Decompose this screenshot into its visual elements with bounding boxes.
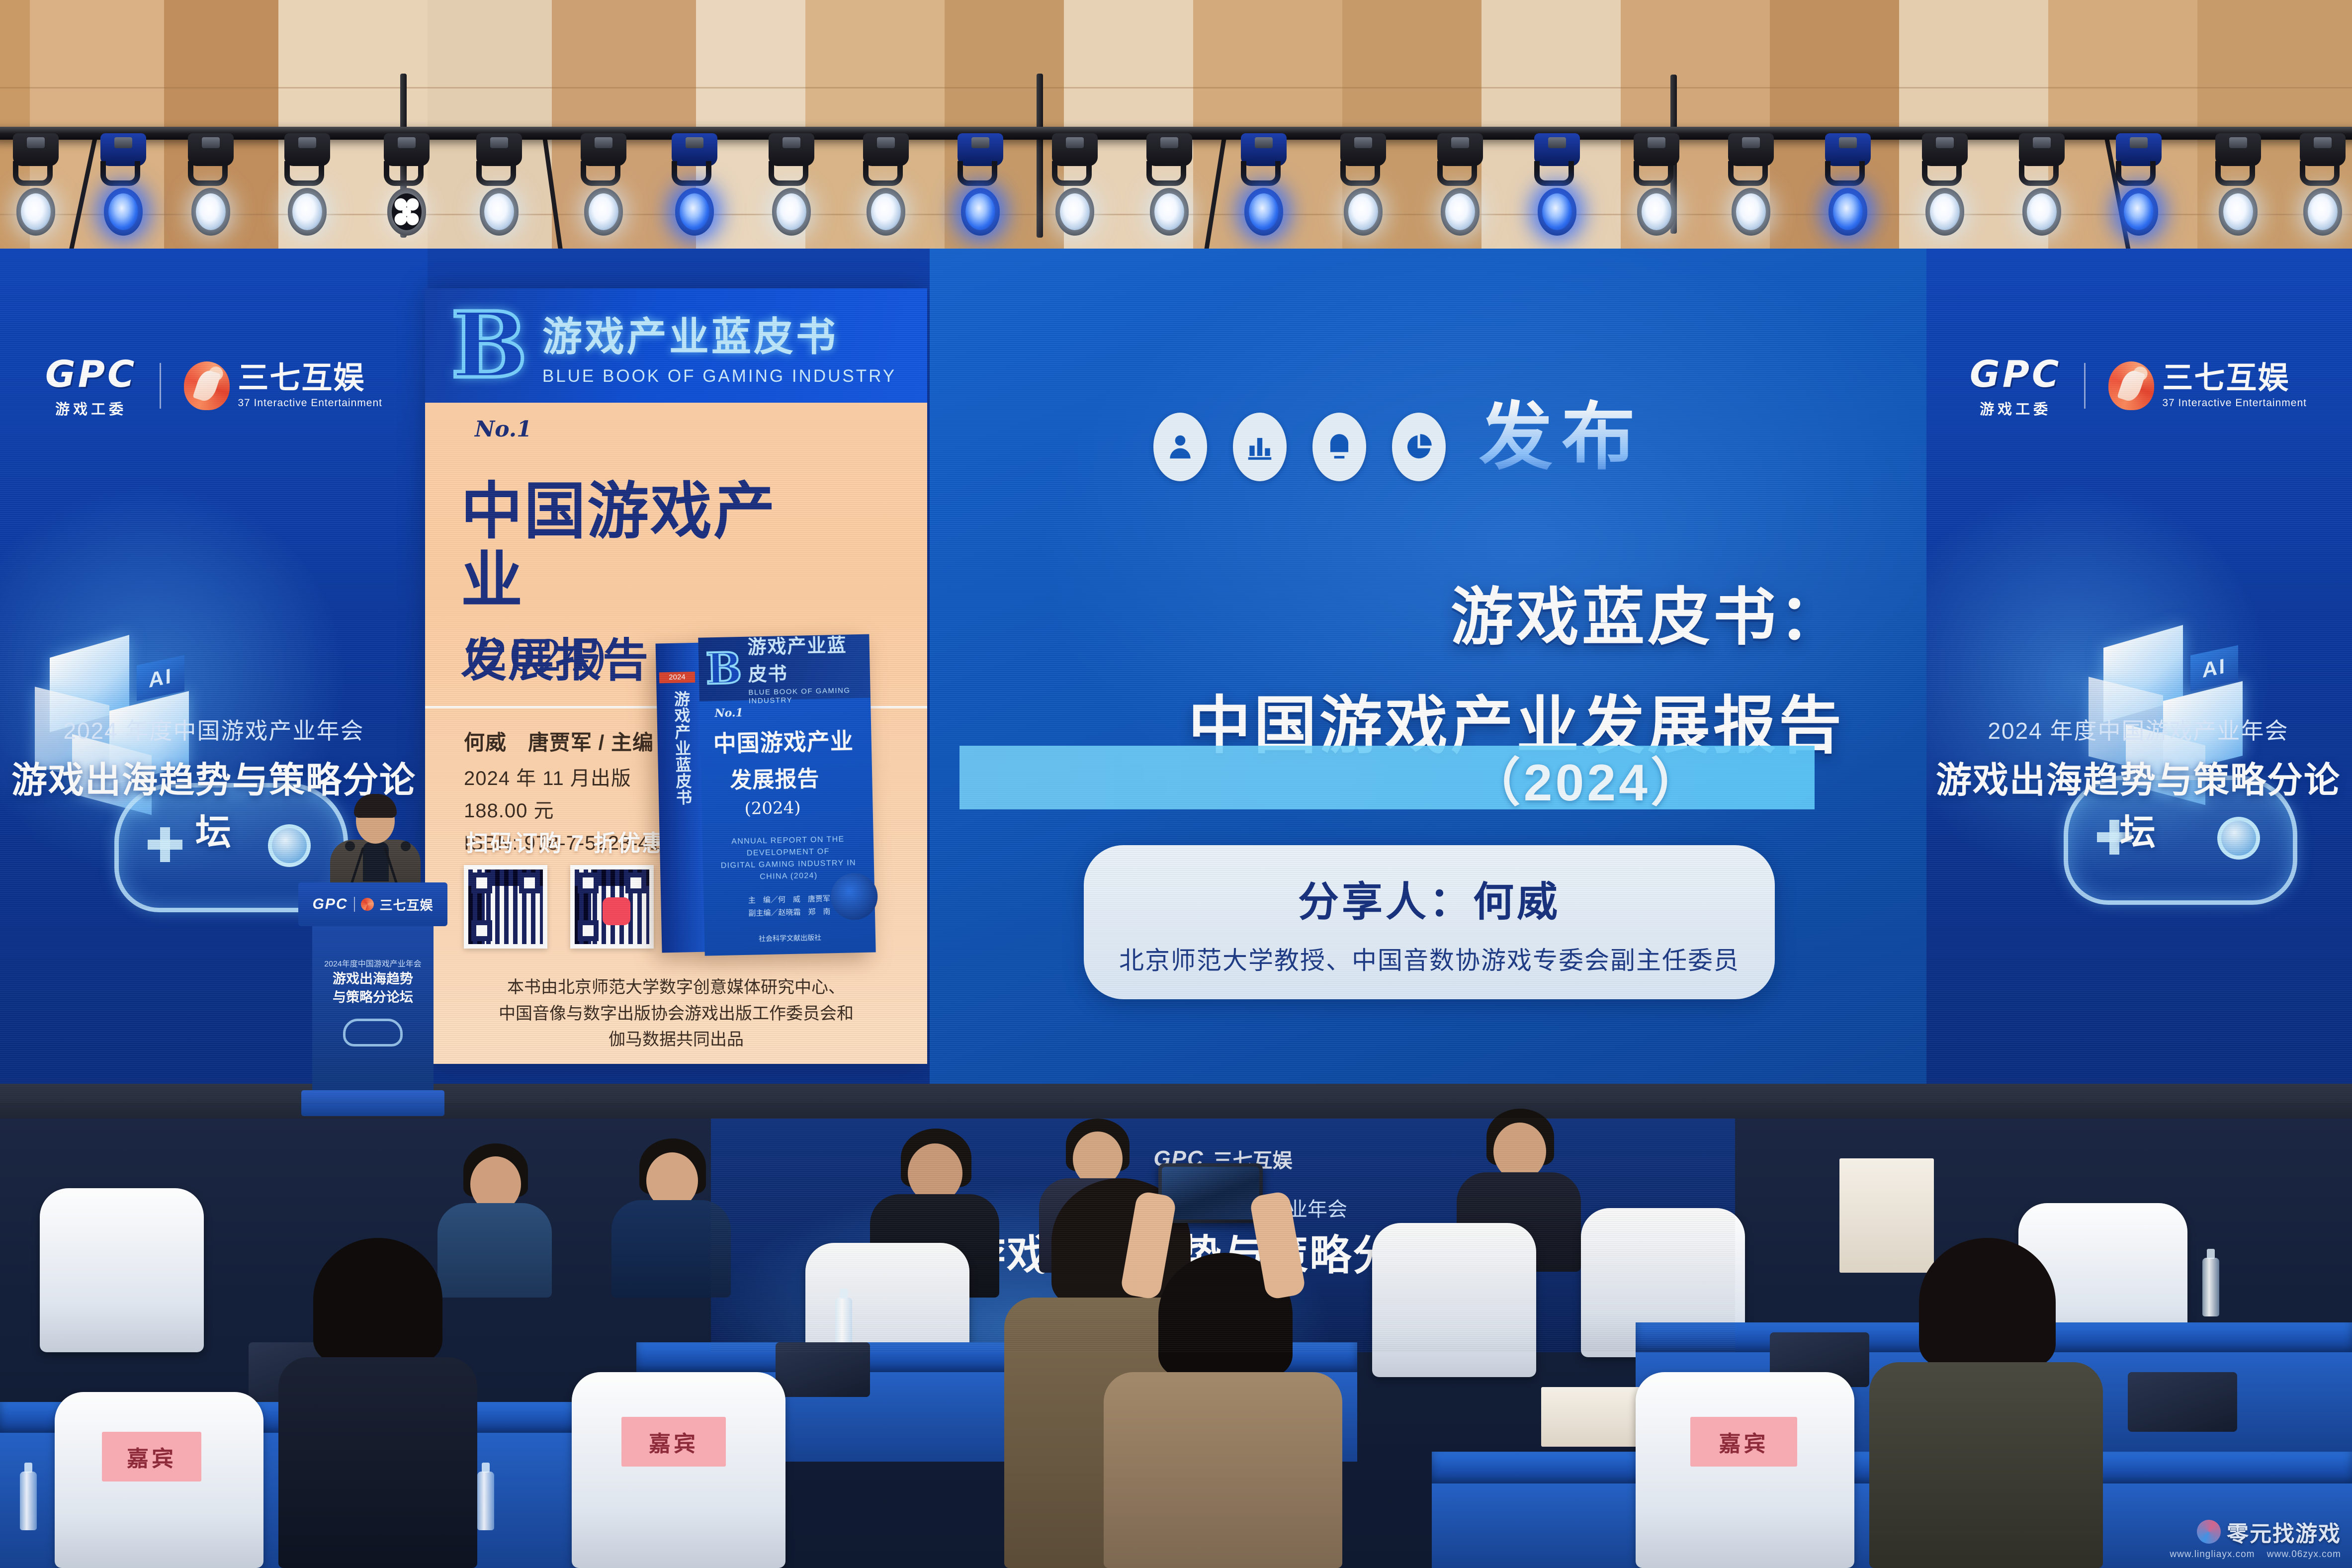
book-cover-no1: No.1 — [714, 704, 871, 720]
presenter-hair — [354, 794, 397, 818]
bell-icon — [1312, 413, 1366, 481]
stage-lamp-white — [2297, 133, 2349, 236]
book-cover-year: (2024) — [744, 796, 873, 818]
year-band: （2024） — [959, 746, 1815, 809]
year-band-label: （2024） — [1469, 740, 1705, 815]
sanqi-mark-icon — [184, 361, 230, 410]
stage-lamp-white — [1143, 133, 1195, 236]
right-wing-title-line1: 2024 年度中国游戏产业年会 — [1924, 713, 2352, 746]
podium-line-big1: 游戏出海趋势 — [312, 971, 434, 987]
person-icon — [1153, 413, 1207, 481]
sanqi-cn-label: 三七互娱 — [2162, 363, 2307, 394]
audience-person-front — [1104, 1253, 1342, 1568]
podium-base — [301, 1090, 444, 1116]
book-3d-mockup: 2024 游戏产业蓝皮书 B 游戏产业蓝皮书 BLUE BOOK OF GAMI… — [655, 634, 875, 957]
poster-footer: 本书由北京师范大学数字创意媒体研究中心、 中国音像与数字出版协会游戏出版工作委员… — [425, 974, 927, 1053]
stage-lamp-white — [578, 133, 629, 236]
book-spine: 2024 游戏产业蓝皮书 — [656, 643, 705, 953]
microphone-head-icon — [345, 841, 355, 851]
stage-lamp-white — [1725, 133, 1777, 236]
stage-lamp-white — [2016, 133, 2068, 236]
gpc-sub-label: 游戏工委 — [55, 398, 127, 419]
poster-header-en: BLUE BOOK OF GAMING INDUSTRY — [542, 366, 896, 386]
poster-title-line1: 中国游戏产业 — [461, 477, 779, 615]
qr-code-1[interactable] — [464, 865, 547, 949]
phone-screen — [1162, 1167, 1259, 1220]
sanqi-cn-label: 三七互娱 — [238, 363, 382, 394]
panel-main-title: 游戏蓝皮书： 中国游戏产业发展报告 — [989, 567, 1904, 766]
speaker-role: 北京师范大学教授、中国音数协游戏专委会副主任委员 — [1119, 941, 1740, 976]
pie-chart-icon — [1392, 413, 1446, 481]
poster-year: (2024) — [465, 631, 607, 681]
book-publisher: 社会科学文献出版社 — [704, 931, 875, 945]
bar-chart-icon — [1233, 413, 1287, 481]
gpc-logo: GPC 游戏工委 — [1970, 353, 2061, 419]
stage-lamp-blue — [955, 133, 1006, 236]
name-card: 嘉宾 — [621, 1417, 726, 1467]
podium-sanqi-mark-icon — [361, 898, 374, 911]
gpc-wordmark: GPC — [1970, 353, 2061, 396]
tablet-device[interactable] — [776, 1342, 870, 1397]
watermark-url-1: www.lingliayx.com — [2170, 1549, 2255, 1560]
stage-lamp-white — [1434, 133, 1486, 236]
podium-gamepad-graphic — [343, 1019, 403, 1046]
icon-row — [1153, 413, 1446, 481]
water-bottle — [2202, 1258, 2219, 1316]
stage-lamp-blue — [2113, 133, 2165, 236]
title-panel: 发布 游戏蓝皮书： 中国游戏产业发展报告 （2024） 分享人：何威 北京师范大… — [930, 249, 1926, 1104]
qr-code-row — [464, 865, 654, 949]
gpc-logo: GPC 游戏工委 — [45, 353, 137, 419]
release-word: 发布 — [1479, 377, 1644, 484]
bluebook-letter: B — [451, 309, 527, 382]
audience-chair — [40, 1188, 204, 1352]
wall-seam — [0, 87, 2352, 88]
book-cover-cn: 游戏产业蓝皮书 — [747, 629, 864, 687]
speaker-name: 分享人：何威 — [1298, 869, 1561, 928]
poster-footer-line1: 本书由北京师范大学数字创意媒体研究中心、 — [425, 974, 927, 1001]
sanqi-en-label: 37 Interactive Entertainment — [238, 397, 382, 409]
qr-code-2[interactable] — [570, 865, 654, 949]
watermark-url-2: www.06zyx.com — [2267, 1549, 2341, 1560]
poster-footer-line2: 中国音像与数字出版协会游戏出版工作委员会和 — [425, 1001, 927, 1027]
book-spine-title: 游戏产业蓝皮书 — [668, 691, 692, 806]
poster-footer-line3: 伽马数据共同出品 — [425, 1027, 927, 1053]
stage-lamp-multi — [381, 133, 433, 236]
right-wing-title: 2024 年度中国游戏产业年会 游戏出海趋势与策略分论坛 — [1924, 713, 2352, 855]
stage-lamp-white — [1919, 133, 1971, 236]
stage-lamp-white — [281, 133, 333, 236]
name-card: 嘉宾 — [1690, 1417, 1797, 1467]
podium-gpc-logo: GPC — [312, 896, 348, 913]
poster-header: B 游戏产业蓝皮书 BLUE BOOK OF GAMING INDUSTRY — [425, 288, 927, 403]
stage-lamp-white — [185, 133, 237, 236]
audience-person-front — [278, 1238, 477, 1568]
audience-person — [611, 1138, 731, 1293]
left-wing-title-line1: 2024 年度中国游戏产业年会 — [0, 713, 428, 746]
podium-line-big2: 与策略分论坛 — [312, 989, 434, 1006]
book-cover-title1: 中国游戏产业 — [713, 723, 871, 759]
podium: GPC 三七互娱 2024年度中国游戏产业年会 游戏出海趋势 与策略分论坛 — [298, 882, 447, 1116]
stage-lamp-white — [1631, 133, 1682, 236]
stage-lamp-white — [860, 133, 912, 236]
stage-lamp-white — [766, 133, 817, 236]
stage-lamp-blue — [97, 133, 149, 236]
front-chair — [572, 1372, 785, 1568]
book-front-cover: B 游戏产业蓝皮书 BLUE BOOK OF GAMING INDUSTRY N… — [698, 634, 875, 956]
left-wing-logo-row: GPC 游戏工委 三七互娱 37 Interactive Entertainme… — [0, 353, 428, 419]
stage-lamp-white — [473, 133, 525, 236]
podium-sanqi-label: 三七互娱 — [380, 895, 434, 914]
truss-pole — [1037, 74, 1043, 238]
stage-lamp-blue — [669, 133, 720, 236]
book-spine-year: 2024 — [659, 672, 695, 684]
poster-header-cn: 游戏产业蓝皮书 — [542, 305, 896, 362]
front-chair — [1636, 1372, 1854, 1568]
panel-title-line1: 游戏蓝皮书： — [989, 567, 1844, 657]
book-cover-letter: B — [705, 651, 742, 687]
stage-lamp-blue — [1531, 133, 1583, 236]
right-wing-logo-row: GPC 游戏工委 三七互娱 37 Interactive Entertainme… — [1924, 353, 2352, 419]
stage-lamp-blue — [1822, 133, 1874, 236]
speaker-info-pill: 分享人：何威 北京师范大学教授、中国音数协游戏专委会副主任委员 — [1084, 845, 1775, 999]
stage-lamp-blue — [1238, 133, 1290, 236]
stage-lamp-white — [10, 133, 62, 236]
podium-line-small: 2024年度中国游戏产业年会 — [312, 957, 434, 969]
sanqi-logo: 三七互娱 37 Interactive Entertainment — [2108, 361, 2307, 410]
watermark-brand: 零元找游戏 — [2227, 1516, 2341, 1548]
poster-no1-label: No.1 — [475, 417, 532, 442]
watermark-logo-icon — [2197, 1520, 2221, 1544]
logo-divider — [2084, 363, 2086, 409]
book-cover-en-sub1: ANNUAL REPORT ON THE DEVELOPMENT OF — [710, 833, 866, 861]
podium-front-panel: 2024年度中国游戏产业年会 游戏出海趋势 与策略分论坛 — [312, 926, 434, 1090]
name-card: 嘉宾 — [102, 1432, 201, 1481]
logo-divider — [160, 363, 161, 409]
sanqi-logo: 三七互娱 37 Interactive Entertainment — [184, 361, 382, 410]
stage-lamp-white — [1337, 133, 1389, 236]
right-wing-panel: GPC 游戏工委 三七互娱 37 Interactive Entertainme… — [1924, 249, 2352, 1104]
sanqi-en-label: 37 Interactive Entertainment — [2162, 397, 2307, 409]
microphone-head-icon — [401, 841, 411, 851]
conference-photo: GPC 游戏工委 三七互娱 37 Interactive Entertainme… — [0, 0, 2352, 1568]
podium-logo-divider — [354, 897, 355, 912]
water-bottle — [20, 1472, 37, 1530]
podium-logo-bar: GPC 三七互娱 — [298, 882, 447, 926]
right-wing-title-line2: 游戏出海趋势与策略分论坛 — [1924, 751, 2352, 855]
sanqi-mark-icon — [2108, 361, 2154, 410]
qr-center-logo-icon — [603, 897, 630, 925]
tablet-device[interactable] — [2128, 1372, 2237, 1432]
water-bottle — [477, 1472, 494, 1530]
gpc-sub-label: 游戏工委 — [1980, 398, 2051, 419]
book-cover-title2: 发展报告 — [730, 760, 872, 794]
stage-lamp-white — [2212, 133, 2264, 236]
audience-person-front — [1869, 1238, 2103, 1568]
gpc-wordmark: GPC — [45, 353, 137, 396]
watermark: 零元找游戏 www.lingliayx.com www.06zyx.com — [2161, 1516, 2341, 1560]
book-cover-en: BLUE BOOK OF GAMING INDUSTRY — [748, 686, 864, 705]
audience-chair — [1372, 1223, 1536, 1377]
stage-lamp-white — [1049, 133, 1101, 236]
scan-order-cta: 扫码订购 7 折优惠 — [466, 825, 666, 858]
book-poster: B 游戏产业蓝皮书 BLUE BOOK OF GAMING INDUSTRY N… — [425, 288, 927, 1064]
